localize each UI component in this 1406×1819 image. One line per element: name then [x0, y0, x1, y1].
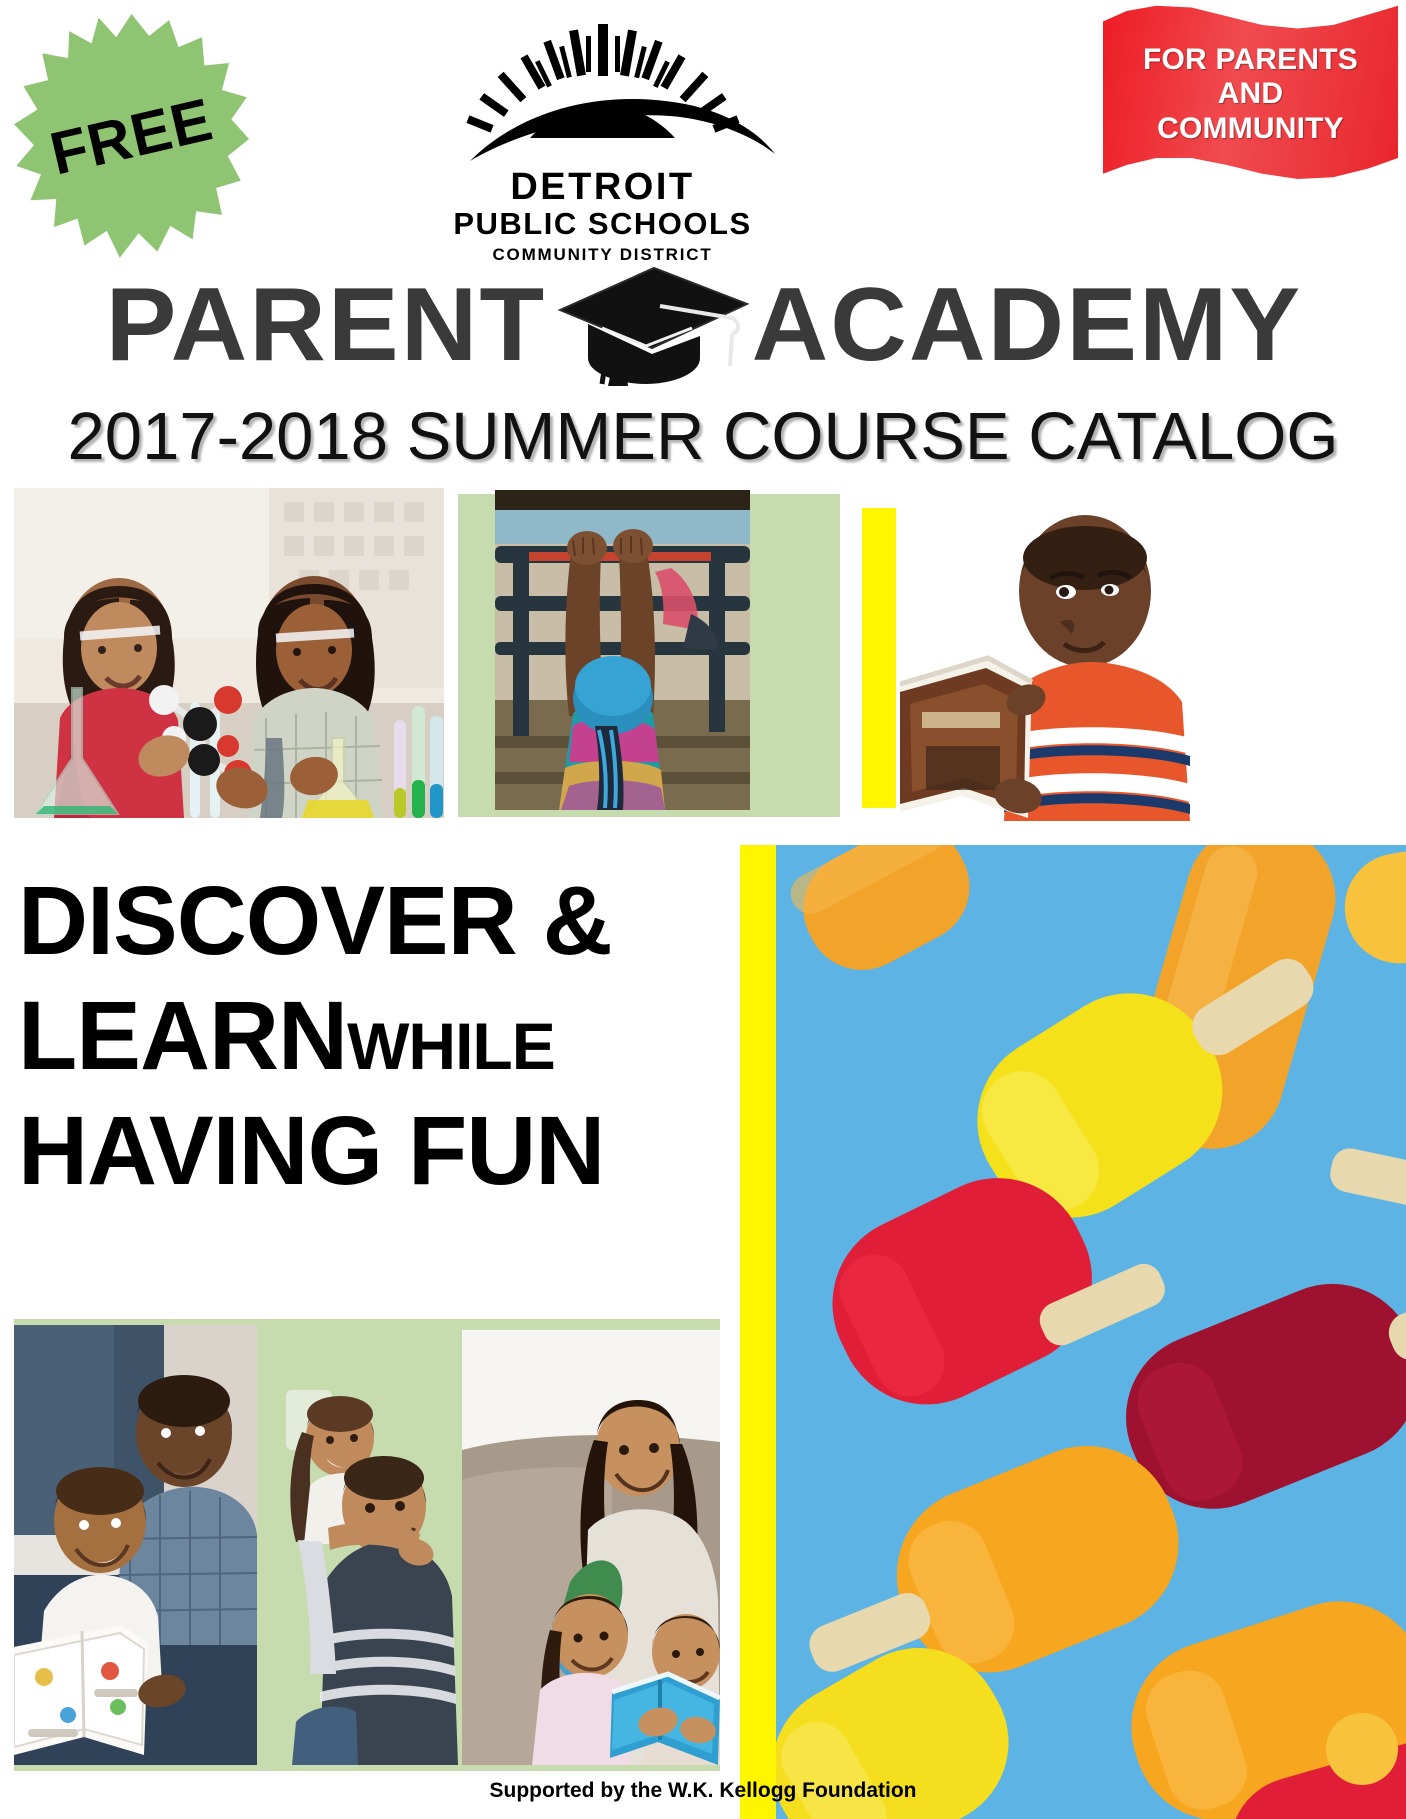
poster-page: FREE FOR PARENTS AND COMMUNITY [0, 0, 1406, 1819]
mother-reading-photo [462, 1330, 720, 1765]
rising-sun-icon [430, 16, 775, 168]
father-piggyback-photo [266, 1330, 466, 1765]
headline-line-1: DISCOVER & [18, 872, 748, 969]
title-word-parent: PARENT [105, 273, 545, 377]
ribbon-line-1: FOR PARENTS [1143, 44, 1358, 76]
page-title: PARENT ACADEMY [0, 262, 1406, 387]
yellow-accent-bar-top [862, 508, 896, 808]
science-lab-photo [14, 488, 444, 818]
headline-learn: LEARN [18, 981, 347, 1090]
catalog-subtitle: 2017-2018 SUMMER COURSE CATALOG [0, 398, 1406, 475]
footer-credit: Supported by the W.K. Kellogg Foundation [0, 1779, 1406, 1803]
logo-line-detroit: DETROIT [430, 168, 775, 206]
popsicles-photo [776, 845, 1406, 1819]
for-parents-ribbon: FOR PARENTS AND COMMUNITY [1103, 4, 1398, 179]
graduation-cap-icon [542, 262, 757, 387]
headline-block: DISCOVER & LEARNWHILE HAVING FUN [18, 872, 748, 1199]
headline-while: WHILE [347, 1009, 555, 1083]
ribbon-line-2: AND [1218, 78, 1284, 110]
dpscd-logo: DETROIT PUBLIC SCHOOLS COMMUNITY DISTRIC… [430, 16, 775, 246]
headline-line-3: HAVING FUN [18, 1102, 748, 1199]
ribbon-line-3: COMMUNITY [1157, 113, 1344, 145]
free-label: FREE [0, 0, 274, 282]
father-son-reading-photo [14, 1325, 257, 1765]
monkey-bars-photo [495, 490, 750, 810]
yellow-accent-bar-right [740, 845, 776, 1819]
logo-line-public-schools: PUBLIC SCHOOLS [430, 206, 775, 242]
headline-line-2: LEARNWHILE [18, 987, 748, 1084]
title-word-academy: ACADEMY [751, 273, 1302, 377]
free-starburst-badge: FREE [14, 14, 249, 259]
boy-reading-photo [900, 496, 1200, 821]
